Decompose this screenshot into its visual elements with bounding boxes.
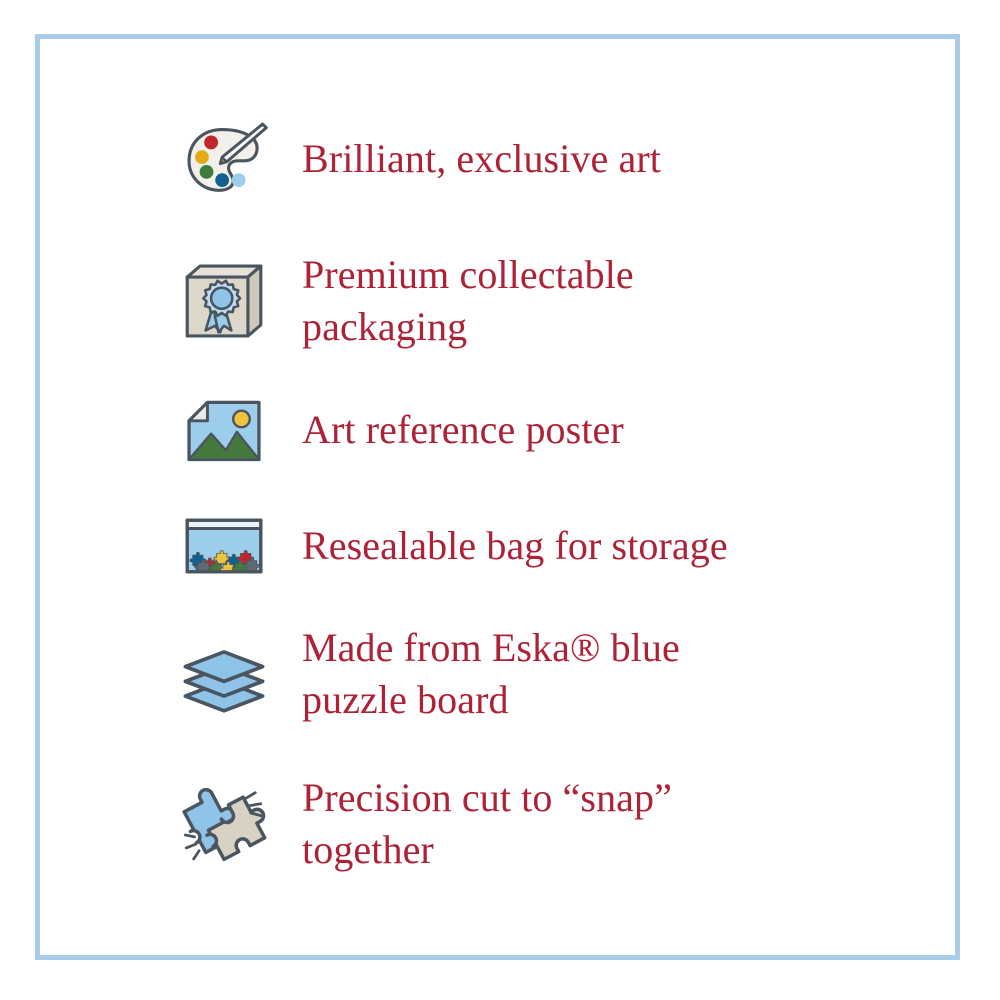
premium-box-ribbon-icon: [178, 255, 270, 347]
list-item: Brilliant, exclusive art: [178, 113, 661, 205]
feature-label: Precision cut to “snap” together: [302, 772, 672, 876]
stacked-boards-icon: [178, 628, 270, 720]
feature-list: Brilliant, exclusive art Premium collect…: [0, 0, 1000, 1000]
feature-label: Art reference poster: [302, 404, 624, 455]
feature-label: Resealable bag for storage: [302, 520, 728, 571]
list-item: Art reference poster: [178, 384, 624, 476]
feature-label: Premium collectable packaging: [302, 249, 634, 353]
resealable-bag-icon: [178, 500, 270, 592]
art-poster-image-icon: [178, 384, 270, 476]
list-item: Made from Eska® blue puzzle board: [178, 622, 680, 726]
paint-palette-icon: [178, 113, 270, 205]
snap-puzzle-pieces-icon: [178, 778, 270, 870]
list-item: Resealable bag for storage: [178, 500, 728, 592]
feature-label: Brilliant, exclusive art: [302, 133, 661, 184]
feature-label: Made from Eska® blue puzzle board: [302, 622, 680, 726]
list-item: Premium collectable packaging: [178, 249, 634, 353]
list-item: Precision cut to “snap” together: [178, 772, 672, 876]
feature-panel: Brilliant, exclusive art Premium collect…: [0, 0, 1000, 1000]
